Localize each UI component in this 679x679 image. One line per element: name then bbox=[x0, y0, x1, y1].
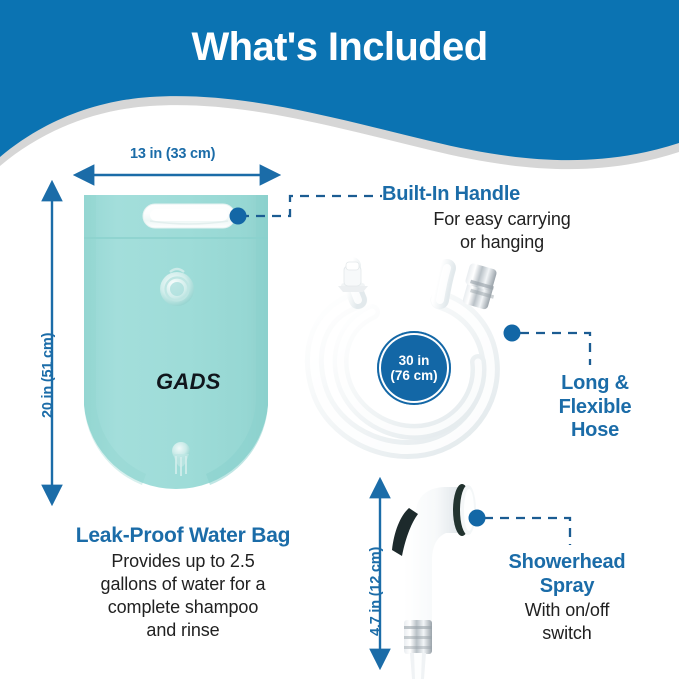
callout-showerhead-body-line2: switch bbox=[452, 622, 679, 645]
hose-length-line1: 30 in bbox=[399, 353, 430, 368]
callout-built-in-handle-title: Built-In Handle bbox=[382, 183, 622, 207]
callout-leak-proof-water-bag: Leak-Proof Water Bag Provides up to 2.5 … bbox=[18, 524, 348, 642]
bag-height-label: 20 in (51 cm) bbox=[40, 333, 56, 418]
showerhead-height-label: 4.7 in (12 cm) bbox=[368, 547, 384, 636]
callout-showerhead-title-line1: Showerhead bbox=[452, 551, 679, 575]
header-blue-wave bbox=[0, 0, 679, 160]
callout-built-in-handle-body-line2: or hanging bbox=[382, 231, 622, 254]
callout-hose-title-line3: Hose bbox=[520, 419, 670, 443]
hose-plastic-connector bbox=[338, 262, 368, 292]
hose-chrome-fitting bbox=[462, 263, 498, 311]
callout-showerhead-spray: Showerhead Spray With on/off switch bbox=[452, 551, 679, 645]
bag-outlet-valve bbox=[172, 442, 190, 476]
water-bag-illustration bbox=[84, 195, 268, 489]
callout-built-in-handle: Built-In Handle For easy carrying or han… bbox=[382, 183, 622, 254]
leader-dot-handle bbox=[230, 208, 247, 225]
leader-dot-hose bbox=[504, 325, 521, 342]
bag-width-label: 13 in (33 cm) bbox=[130, 146, 215, 162]
showerhead-chrome-collar bbox=[404, 620, 432, 654]
infographic-canvas: What's Included bbox=[0, 0, 679, 679]
bag-inlet-valve bbox=[160, 269, 194, 306]
callout-bag-body-line4: and rinse bbox=[18, 619, 348, 642]
callout-long-flexible-hose: Long & Flexible Hose bbox=[520, 372, 670, 443]
leader-dot-showerhead bbox=[469, 510, 486, 527]
bag-brand-logo: GADS bbox=[156, 369, 221, 395]
callout-hose-title-line1: Long & bbox=[520, 372, 670, 396]
leader-showerhead-spray bbox=[469, 510, 571, 546]
bag-handle-slot bbox=[143, 204, 235, 228]
callout-hose-title-line2: Flexible bbox=[520, 396, 670, 420]
on-off-switch-lever bbox=[392, 508, 418, 556]
callout-showerhead-title-line2: Spray bbox=[452, 575, 679, 599]
callout-built-in-handle-body-line1: For easy carrying bbox=[382, 208, 622, 231]
header-band bbox=[0, 0, 679, 175]
callout-bag-body-line2: gallons of water for a bbox=[18, 573, 348, 596]
callout-bag-title: Leak-Proof Water Bag bbox=[18, 524, 348, 549]
leader-built-in-handle bbox=[230, 196, 383, 225]
hose-length-badge: 30 in (76 cm) bbox=[377, 331, 451, 405]
leader-long-flexible-hose bbox=[504, 325, 591, 366]
callout-bag-body-line1: Provides up to 2.5 bbox=[18, 550, 348, 573]
callout-bag-body-line3: complete shampoo bbox=[18, 596, 348, 619]
callout-showerhead-body-line1: With on/off bbox=[452, 599, 679, 622]
hose-length-line2: (76 cm) bbox=[390, 368, 437, 383]
